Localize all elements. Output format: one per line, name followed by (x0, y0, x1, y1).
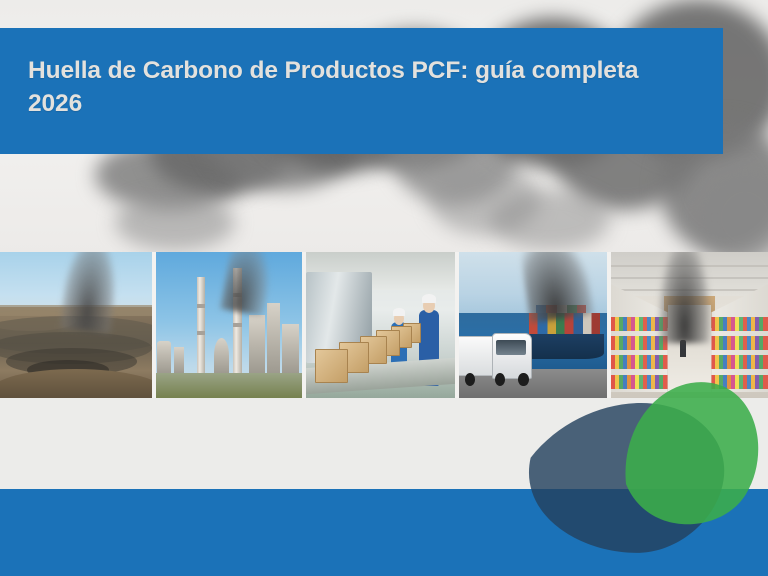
page-title: Huella de Carbono de Productos PCF: guía… (28, 54, 683, 120)
panel-supermarket-aisle: Venta y uso — pasillo de supermercado (611, 252, 768, 398)
slide-canvas: Columnas de humo gris sobre cielo claro … (0, 0, 768, 576)
panel-open-pit-mine: Extracción de materias primas — mina a c… (0, 252, 152, 398)
title-bar: Huella de Carbono de Productos PCF: guía… (0, 28, 723, 154)
panel-freight-ship-truck: Transporte y distribución — buque portac… (459, 252, 607, 398)
footer-band (0, 489, 768, 576)
image-strip: Extracción de materias primas — mina a c… (0, 252, 768, 398)
panel-factory-assembly-line: Fabricación — línea de montaje con cajas (306, 252, 455, 398)
panel-industrial-plant: Procesamiento industrial — planta con ch… (156, 252, 302, 398)
